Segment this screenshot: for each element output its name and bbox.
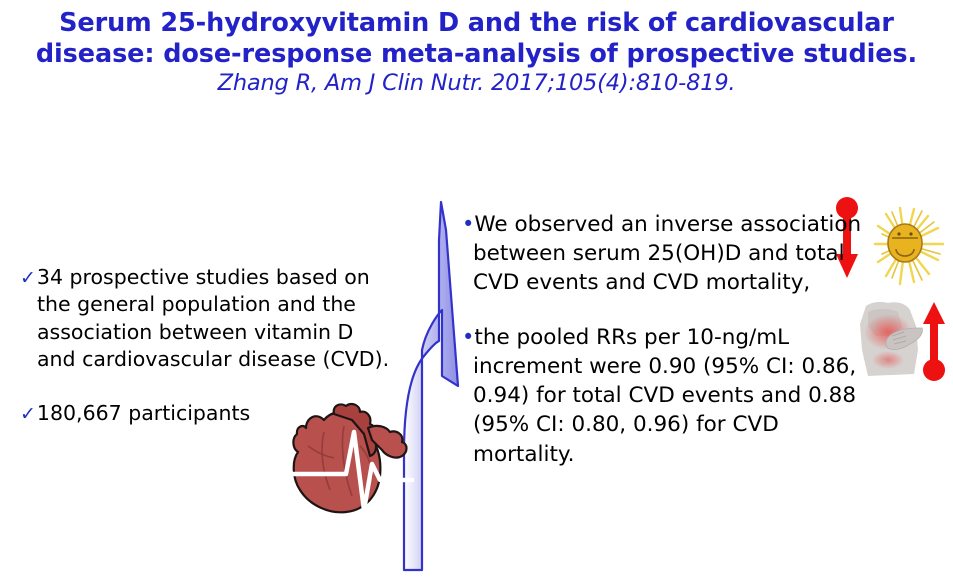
list-item-text: We observed an inverse association betwe…: [473, 212, 861, 295]
slide-title: Serum 25-hydroxyvitamin D and the risk o…: [18, 8, 935, 98]
list-item: •We observed an inverse association betw…: [462, 210, 882, 298]
title-main-text: Serum 25-hydroxyvitamin D and the risk o…: [36, 8, 917, 69]
list-item: ✓34 prospective studies based on the gen…: [20, 264, 392, 373]
bullet-dot-icon: •: [462, 212, 474, 236]
list-item-text: 34 prospective studies based on the gene…: [37, 265, 389, 371]
red-up-arrow-icon: [923, 302, 945, 381]
bullet-dot-icon: •: [462, 325, 474, 349]
list-item-text: 180,667 participants: [37, 401, 250, 425]
slide-canvas: Serum 25-hydroxyvitamin D and the risk o…: [0, 0, 953, 584]
list-item: •the pooled RRs per 10-ng/mL increment w…: [462, 323, 882, 469]
left-bullet-list: ✓34 prospective studies based on the gen…: [20, 264, 392, 427]
checkmark-icon: ✓: [20, 403, 36, 425]
right-bullet-list: •We observed an inverse association betw…: [462, 210, 882, 469]
title-citation-text: Zhang R, Am J Clin Nutr. 2017;105(4):810…: [218, 70, 736, 96]
checkmark-icon: ✓: [20, 267, 36, 289]
list-item: ✓180,667 participants: [20, 400, 392, 427]
list-item-text: the pooled RRs per 10-ng/mL increment we…: [473, 325, 856, 467]
